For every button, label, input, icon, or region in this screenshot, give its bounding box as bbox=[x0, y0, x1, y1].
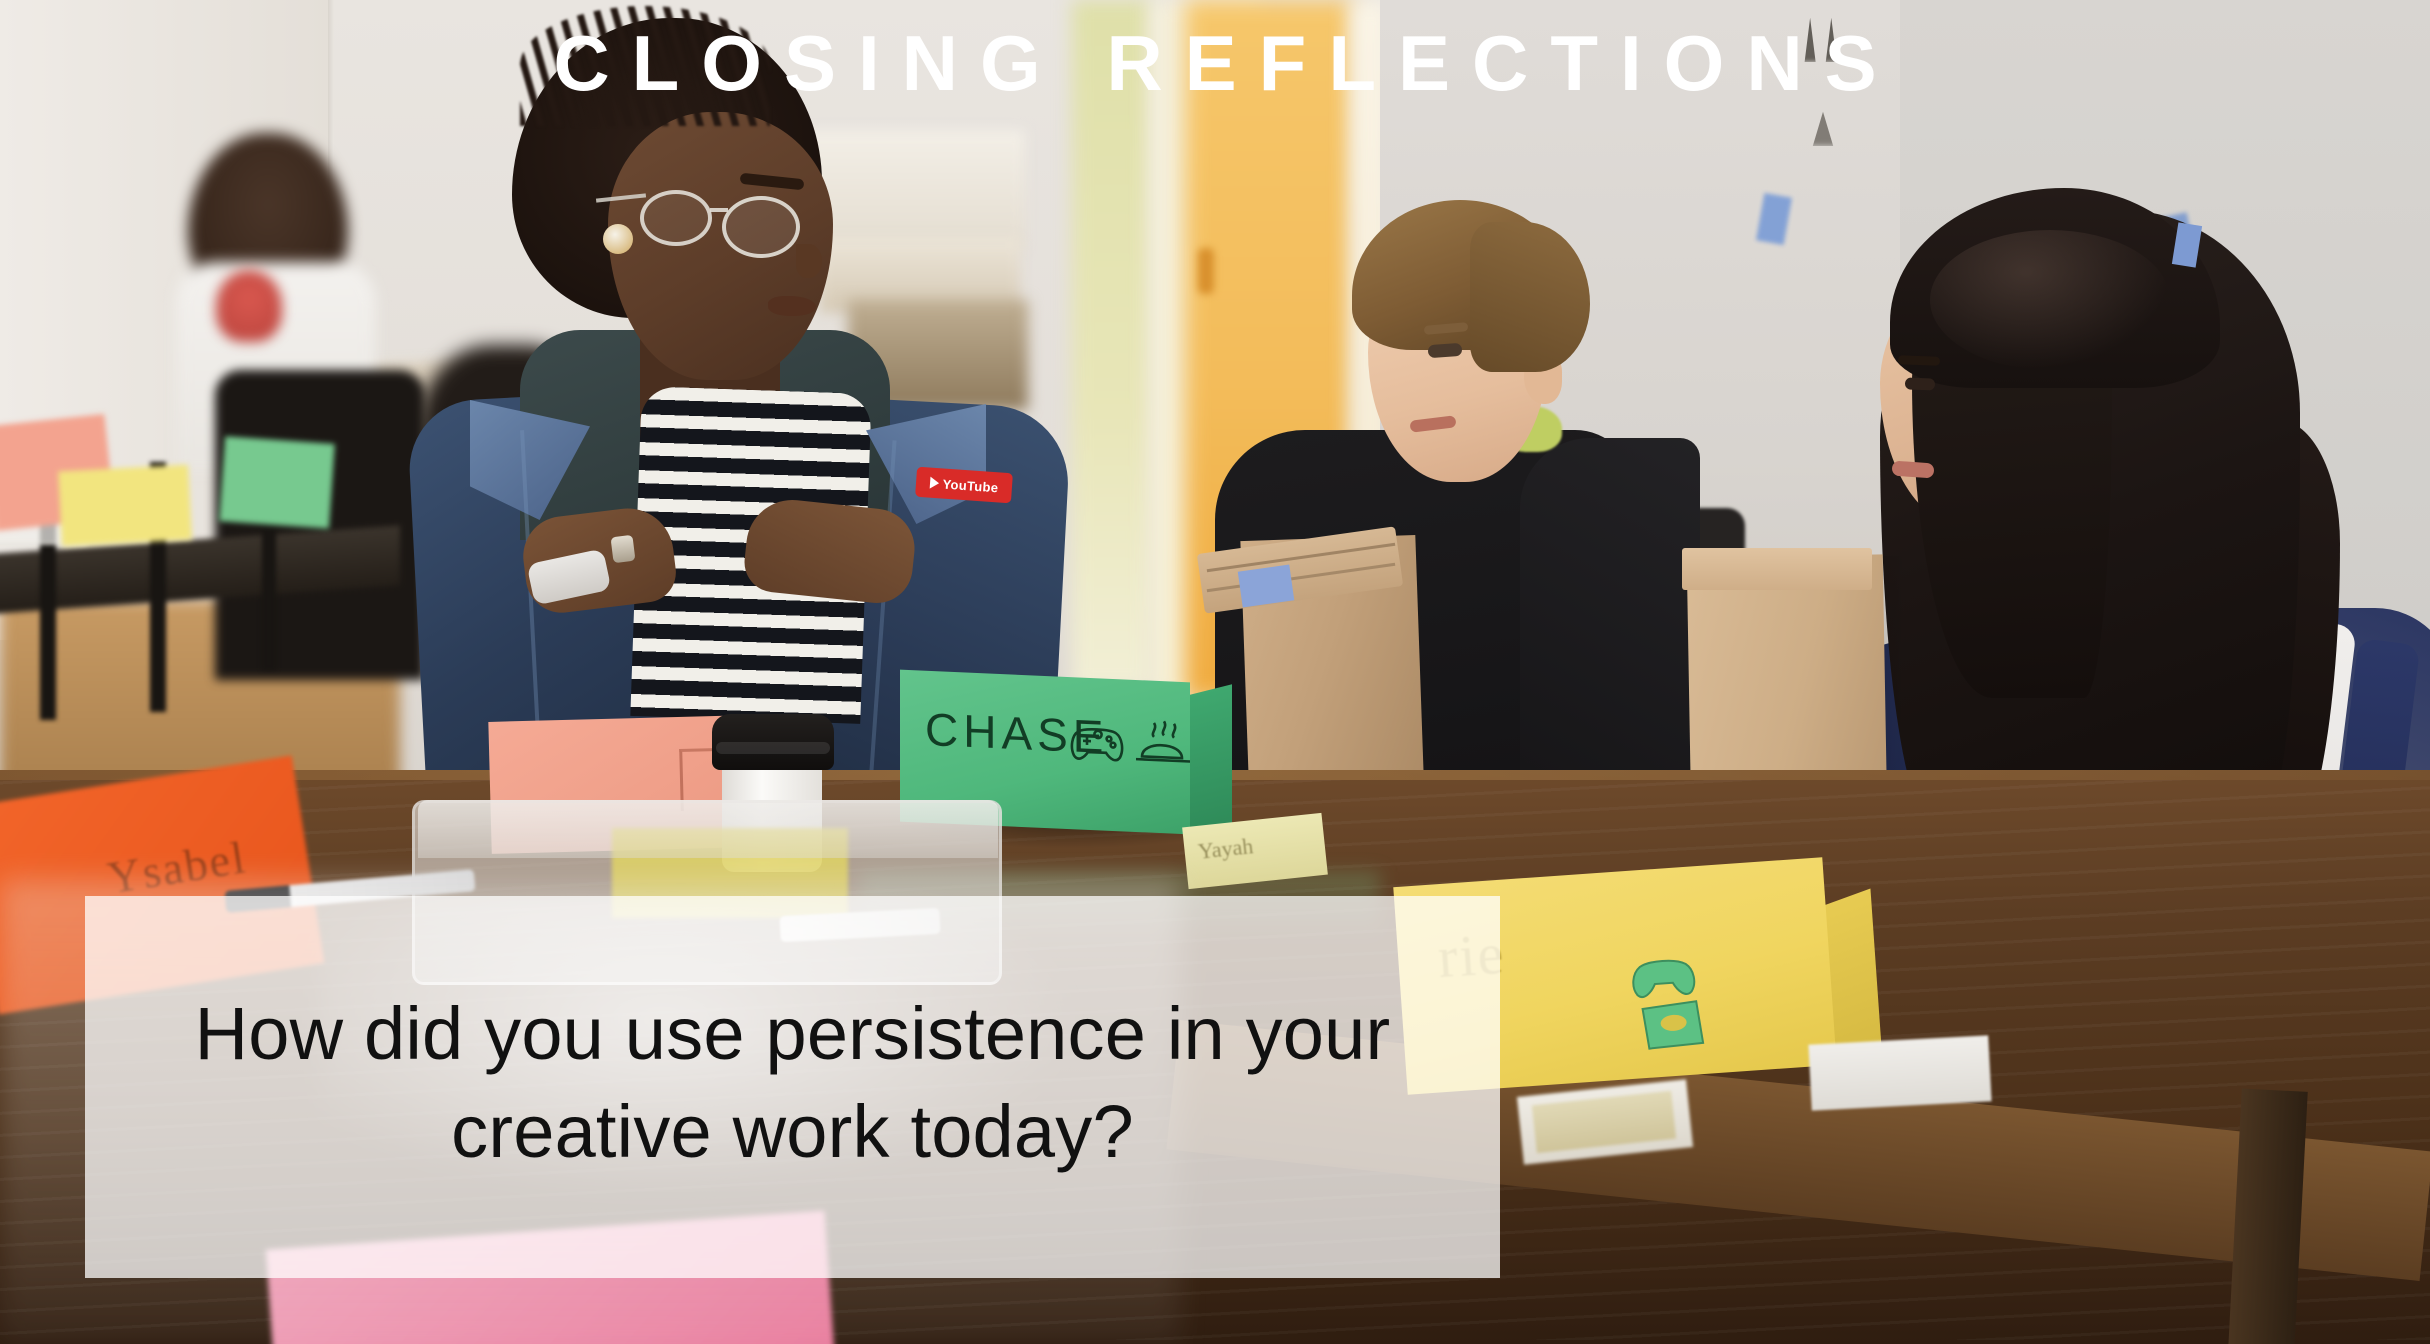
page-title: CLOSING REFLECTIONS bbox=[0, 24, 2430, 102]
glasses-lens-left bbox=[640, 190, 712, 246]
facilitator-hand-right bbox=[742, 495, 919, 606]
game-controller-icon bbox=[1632, 959, 1695, 998]
table-leg-right bbox=[2228, 1088, 2308, 1344]
game-controller-icon bbox=[1072, 728, 1122, 760]
girl-lips bbox=[1892, 461, 1935, 479]
reflection-question: How did you use persistence in your crea… bbox=[168, 985, 1418, 1189]
name-tent-yellow-doodles bbox=[1626, 940, 1743, 1057]
slide-canvas: YouTube bbox=[0, 0, 2430, 1344]
blue-tape-on-bag bbox=[1238, 565, 1295, 608]
paper-yellow-left bbox=[58, 465, 192, 547]
paper-bag-girl-fold bbox=[1682, 548, 1872, 590]
play-triangle-icon bbox=[929, 477, 939, 490]
facilitator-nose bbox=[796, 244, 822, 278]
glasses-lens-right bbox=[722, 196, 800, 258]
facilitator-lips bbox=[768, 296, 816, 316]
background-box-top bbox=[805, 130, 1025, 250]
girl-eye bbox=[1905, 377, 1935, 390]
white-card-right bbox=[1808, 1035, 1991, 1110]
background-person-scarf bbox=[216, 270, 282, 342]
earring bbox=[603, 224, 633, 254]
storage-bin-lid bbox=[418, 800, 998, 858]
caption-panel: How did you use persistence in your crea… bbox=[85, 896, 1500, 1278]
paper-green-left bbox=[219, 436, 335, 528]
glasses-bridge bbox=[710, 208, 728, 212]
boy-eye bbox=[1428, 343, 1463, 358]
girl-hair-highlight bbox=[1930, 230, 2170, 370]
youtube-patch-label: YouTube bbox=[942, 476, 999, 495]
coffee-cup-lid-ring bbox=[716, 742, 830, 754]
steaming-food-icon bbox=[1136, 720, 1190, 761]
green-box-icon bbox=[1642, 1001, 1703, 1049]
name-tent-green-doodles bbox=[1068, 709, 1198, 777]
finger-ring bbox=[610, 535, 635, 563]
girl-eyebrow bbox=[1898, 355, 1940, 365]
door-knob bbox=[1198, 248, 1214, 294]
